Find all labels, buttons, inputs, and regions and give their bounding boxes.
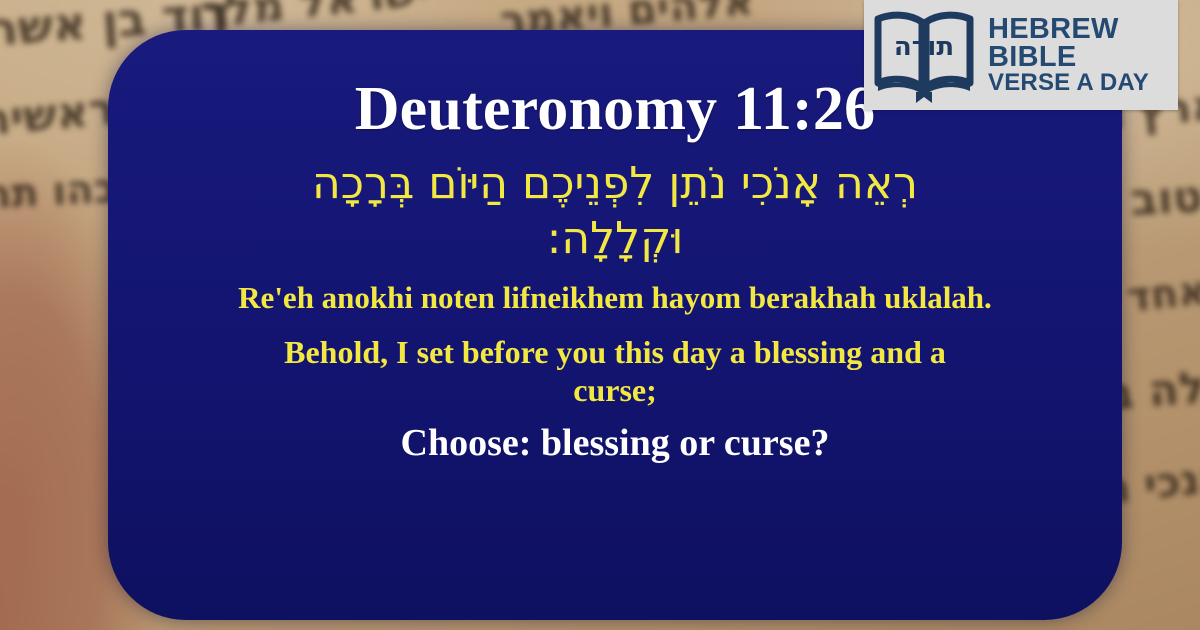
open-book-torah-icon: תורה [872, 7, 976, 103]
verse-question: Choose: blessing or curse? [142, 423, 1088, 465]
verse-translation: Behold, I set before you this day a bles… [142, 333, 1088, 410]
verse-card-content: Deuteronomy 11:26 רְאֵה אָנֹכִי נֹתֵן לִ… [108, 30, 1122, 620]
logo-line-bible: BIBLE [988, 43, 1149, 71]
hebrew-verse-text: רְאֵה אָנֹכִי נֹתֵן לִפְנֵיכֶם הַיּוֹם ב… [142, 156, 1088, 266]
brand-logo[interactable]: תורה HEBREW BIBLE VERSE A DAY [864, 0, 1178, 110]
brand-logo-text: HEBREW BIBLE VERSE A DAY [988, 15, 1149, 95]
verse-transliteration: Re'eh anokhi noten lifneikhem hayom bera… [142, 280, 1088, 317]
hebrew-line-1: רְאֵה אָנֹכִי נֹתֵן לִפְנֵיכֶם הַיּוֹם ב… [170, 156, 1060, 211]
verse-card: Deuteronomy 11:26 רְאֵה אָנֹכִי נֹתֵן לִ… [108, 30, 1122, 620]
logo-line-verse-a-day: VERSE A DAY [988, 71, 1149, 94]
logo-line-hebrew: HEBREW [988, 15, 1149, 43]
verse-graphic: אשר‎ בן‎ דוד מלך‎ ישראל ויאמר‎ אלהים את‎… [0, 0, 1200, 630]
svg-text:תורה: תורה [894, 32, 954, 62]
hebrew-line-2: וּקְלָלָה: [170, 211, 1060, 266]
